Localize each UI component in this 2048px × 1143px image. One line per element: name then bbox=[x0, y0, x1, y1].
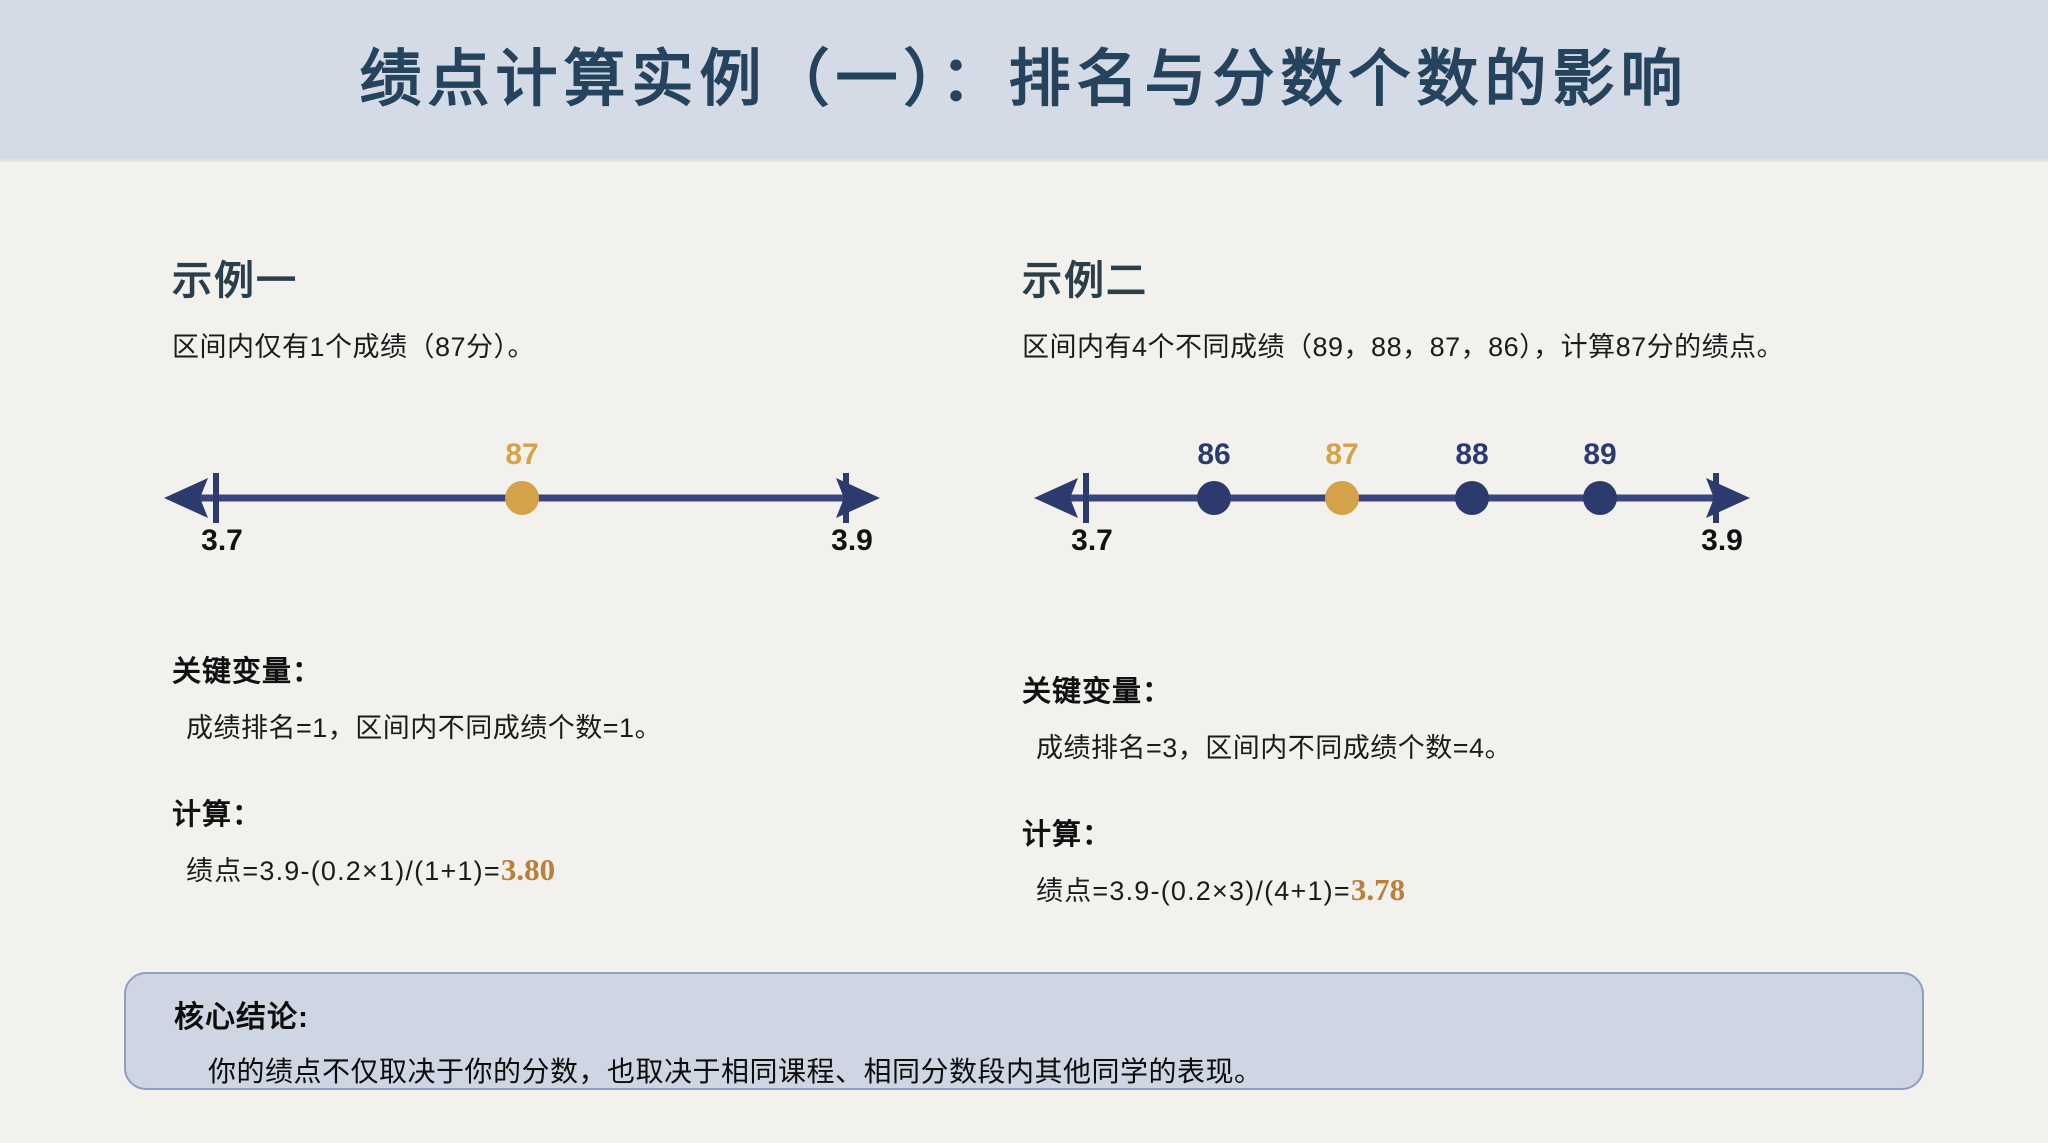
example-two-number-line: 86 87 88 89 3.7 3.9 bbox=[1022, 420, 1762, 550]
axis-left-label: 3.7 bbox=[1071, 524, 1113, 558]
key-variables-value: 成绩排名=1，区间内不同成绩个数=1。 bbox=[186, 706, 662, 745]
axis-point-label: 87 bbox=[1325, 438, 1358, 472]
formula-result: 3.78 bbox=[1351, 872, 1405, 907]
page-title: 绩点计算实例（一）：排名与分数个数的影响 bbox=[359, 47, 1688, 112]
axis-point-label: 86 bbox=[1197, 438, 1230, 472]
calculation-formula: 绩点=3.9-(0.2×1)/(1+1)=3.80 bbox=[186, 849, 662, 888]
axis-point-label: 88 bbox=[1455, 438, 1488, 472]
calculation-label: 计算： bbox=[1022, 811, 1512, 853]
key-variables-label: 关键变量： bbox=[172, 648, 662, 690]
axis-point-label: 87 bbox=[505, 438, 538, 472]
axis-left-label: 3.7 bbox=[201, 524, 243, 558]
example-one-number-line: 87 3.7 3.9 bbox=[152, 420, 892, 550]
example-one-heading: 示例一 bbox=[172, 248, 298, 306]
conclusion-box: 核心结论: 你的绩点不仅取决于你的分数，也取决于相同课程、相同分数段内其他同学的… bbox=[124, 972, 1924, 1090]
axis-right-label: 3.9 bbox=[1701, 524, 1743, 558]
example-one-description: 区间内仅有1个成绩（87分）。 bbox=[172, 325, 535, 364]
example-one-details: 关键变量： 成绩排名=1，区间内不同成绩个数=1。 计算： 绩点=3.9-(0.… bbox=[172, 648, 662, 888]
axis-right-label: 3.9 bbox=[831, 524, 873, 558]
key-variables-value: 成绩排名=3，区间内不同成绩个数=4。 bbox=[1036, 726, 1512, 765]
calculation-label: 计算： bbox=[172, 791, 662, 833]
formula-result: 3.80 bbox=[501, 852, 555, 887]
example-two-heading: 示例二 bbox=[1022, 248, 1148, 306]
axis-point-label: 89 bbox=[1583, 438, 1616, 472]
example-two-details: 关键变量： 成绩排名=3，区间内不同成绩个数=4。 计算： 绩点=3.9-(0.… bbox=[1022, 668, 1512, 908]
key-variables-label: 关键变量： bbox=[1022, 668, 1512, 710]
number-line-axis-icon bbox=[1022, 420, 1762, 550]
conclusion-text: 你的绩点不仅取决于你的分数，也取决于相同课程、相同分数段内其他同学的表现。 bbox=[208, 1050, 1922, 1090]
title-band: 绩点计算实例（一）：排名与分数个数的影响 bbox=[0, 0, 2048, 162]
example-two-description: 区间内有4个不同成绩（89，88，87，86），计算87分的绩点。 bbox=[1022, 325, 1784, 364]
conclusion-title: 核心结论: bbox=[174, 992, 1922, 1036]
formula-expression: 绩点=3.9-(0.2×1)/(1+1)= bbox=[186, 856, 501, 886]
formula-expression: 绩点=3.9-(0.2×3)/(4+1)= bbox=[1036, 876, 1351, 906]
calculation-formula: 绩点=3.9-(0.2×3)/(4+1)=3.78 bbox=[1036, 869, 1512, 908]
